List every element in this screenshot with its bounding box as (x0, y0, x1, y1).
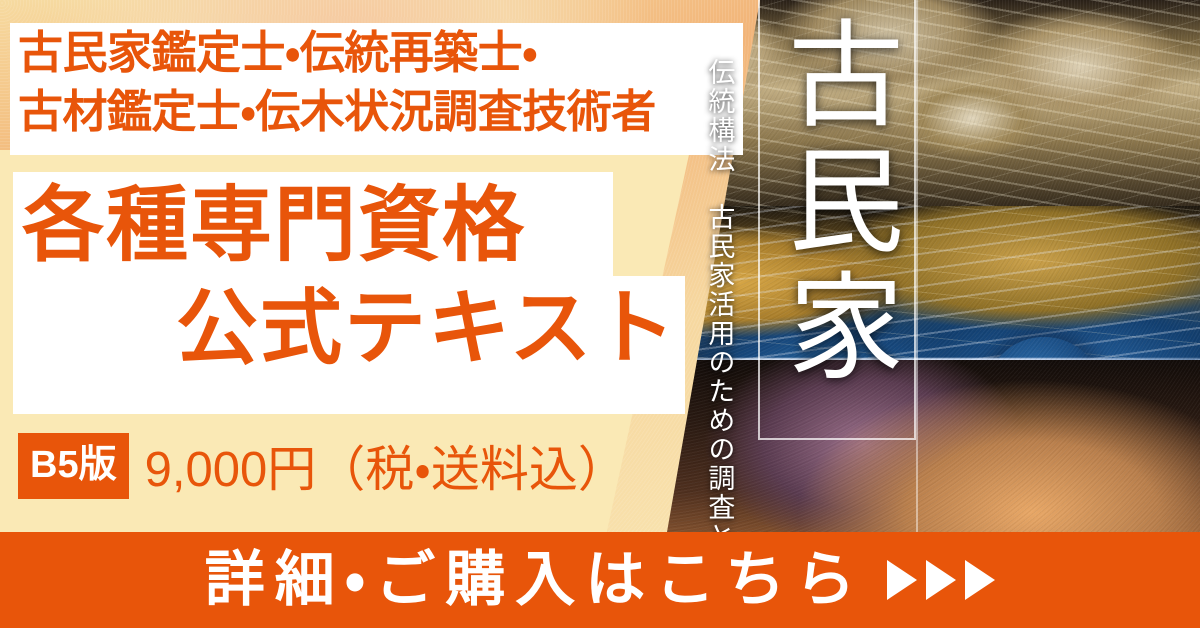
format-badge: B5版 (18, 433, 129, 499)
promo-banner: 古民家 伝統構法 古民家活用のための調査と再生の 古民家鑑定士・伝統再築士・ 古… (0, 0, 1200, 628)
chevron-right-icon (926, 560, 956, 600)
cta-arrow-group (887, 560, 995, 600)
cta-bar[interactable]: 詳細・ご購入はこちら (0, 532, 1200, 628)
product-title-line-1: 各種専門資格 (22, 185, 526, 267)
book-cover-vertical-subtitle: 伝統構法 古民家活用のための調査と再生の (705, 58, 733, 558)
cover-rule-right (916, 0, 918, 572)
chevron-right-icon (965, 560, 995, 600)
cta-label: 詳細・ご購入はこちら (205, 550, 865, 610)
price-text: 9,000円（税・送料込） (145, 430, 627, 501)
headline-line-2: 古材鑑定士・伝木状況調査技術者 (18, 83, 738, 142)
book-cover-vertical-title: 古民家 (782, 14, 900, 392)
chevron-right-icon (887, 560, 917, 600)
price-row: B5版 9,000円（税・送料込） (18, 430, 627, 501)
qualifications-headline: 古民家鑑定士・伝統再築士・ 古材鑑定士・伝木状況調査技術者 (18, 24, 738, 141)
product-title-line-2: 公式テキスト (176, 288, 678, 370)
headline-line-1: 古民家鑑定士・伝統再築士・ (18, 24, 738, 83)
